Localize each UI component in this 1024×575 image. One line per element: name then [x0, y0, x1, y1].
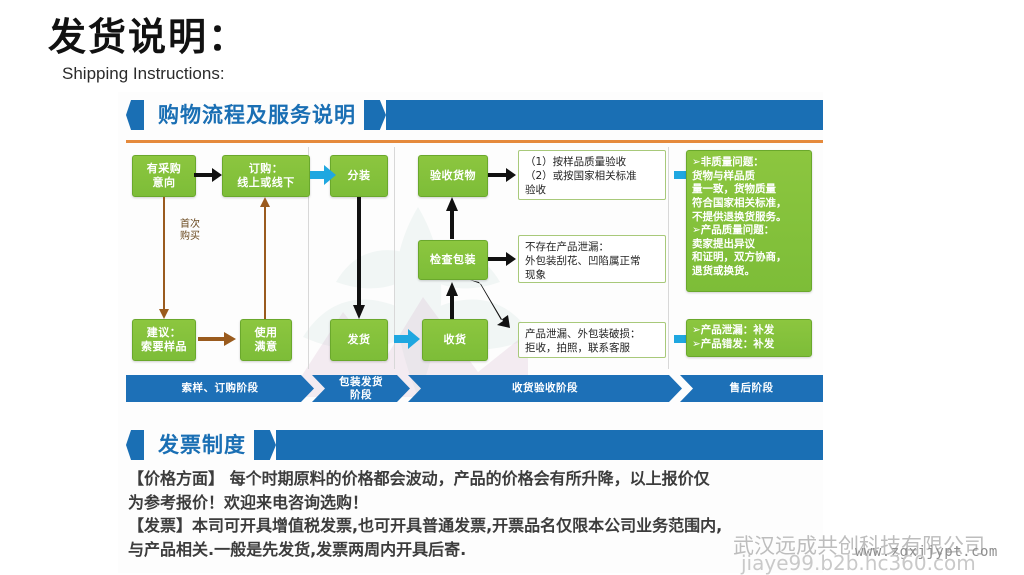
invoice-line: 为参考报价！欢迎来电咨询选购！ — [128, 492, 823, 515]
arrow-down-icon — [352, 197, 366, 319]
arrow-up-icon — [445, 197, 459, 239]
arrow-right-icon — [488, 251, 516, 267]
callout-no-leakage: 不存在产品泄漏： 外包装刮花、凹陷属正常 现象 — [518, 235, 666, 283]
chevron-left-icon — [126, 100, 144, 130]
stage-progress-bar: 索样、订购阶段 包装发货 阶段 收货验收阶段 售后阶段 — [126, 375, 823, 402]
node-check-packaging[interactable]: 检查包装 — [418, 240, 488, 280]
watermark-website: www.zgxjjypt.com — [855, 544, 998, 560]
banner-bar — [386, 100, 823, 130]
node-inspect-goods[interactable]: 验收货物 — [418, 155, 488, 197]
flowchart: 有采购 意向 订购： 线上或线下 分装 验收货物 （1）按样品质量验收 （2）或… — [118, 147, 823, 372]
orange-divider — [126, 140, 823, 143]
page-title: 发货说明： — [48, 6, 248, 61]
invoice-line: 【发票】本司可开具增值税发票,也可开具普通发票,开票品名仅限本公司业务范围内, — [128, 515, 823, 538]
stage-pack-ship[interactable]: 包装发货 阶段 — [312, 375, 410, 402]
banner-bar — [276, 430, 823, 460]
callout-damaged-package: 产品泄漏、外包装破损： 拒收，拍照，联系客服 — [518, 322, 666, 358]
arrow-right-blue-icon — [394, 329, 420, 349]
arrow-right-blue-icon — [310, 165, 336, 185]
arrow-label-first-purchase: 首次 购买 — [170, 219, 210, 243]
node-place-order[interactable]: 订购： 线上或线下 — [222, 155, 310, 197]
arrow-up-icon — [445, 282, 459, 322]
chevron-right-icon — [254, 430, 276, 460]
callout-acceptance-standard: （1）按样品质量验收 （2）或按国家相关标准 验收 — [518, 150, 666, 200]
stage-sample-order[interactable]: 索样、订购阶段 — [126, 375, 314, 402]
stage-after-sales[interactable]: 售后阶段 — [680, 375, 823, 402]
chevron-left-icon — [126, 430, 144, 460]
banner-invoice-policy: 发票制度 — [126, 430, 823, 460]
page-subtitle: Shipping Instructions: — [62, 64, 225, 84]
invoice-policy-text: 【价格方面】 每个时期原料的价格都会波动，产品的价格会有所升降，以上报价仅 为参… — [128, 468, 823, 563]
node-satisfied-after-use[interactable]: 使用 满意 — [240, 319, 292, 361]
node-receive-goods[interactable]: 收货 — [422, 319, 488, 361]
sidebox-quality-policy: ➢非质量问题： 货物与样品质 量一致，货物质量 符合国家相关标准， 不提供退换货… — [686, 150, 812, 292]
stage-receive-check[interactable]: 收货验收阶段 — [408, 375, 682, 402]
invoice-line: 与产品相关.一般是先发货,发票两周内开具后寄. — [128, 539, 823, 562]
banner-shopping-flow: 购物流程及服务说明 — [126, 100, 823, 130]
arrow-up-brown-icon — [259, 197, 271, 319]
node-request-sample[interactable]: 建议： 索要样品 — [132, 319, 196, 361]
column-divider — [668, 147, 669, 369]
sidebox-reship-policy: ➢产品泄漏：补发 ➢产品错发：补发 — [686, 319, 812, 357]
banner-invoice-title: 发票制度 — [144, 430, 254, 460]
banner-flow-title: 购物流程及服务说明 — [144, 100, 364, 130]
arrow-right-brown-icon — [198, 332, 236, 346]
arrow-right-icon — [194, 167, 222, 183]
invoice-line: 【价格方面】 每个时期原料的价格都会波动，产品的价格会有所升降，以上报价仅 — [128, 468, 823, 491]
arrow-down-brown-icon — [158, 197, 170, 319]
arrow-right-icon — [488, 167, 516, 183]
node-purchase-intent[interactable]: 有采购 意向 — [132, 155, 196, 197]
node-repack[interactable]: 分装 — [330, 155, 388, 197]
node-ship-goods[interactable]: 发货 — [330, 319, 388, 361]
chevron-right-icon — [364, 100, 386, 130]
shipping-instructions-panel: 购物流程及服务说明 有采购 意向 订购： 线上或线下 分装 验收货物 （1）按样… — [118, 92, 823, 573]
